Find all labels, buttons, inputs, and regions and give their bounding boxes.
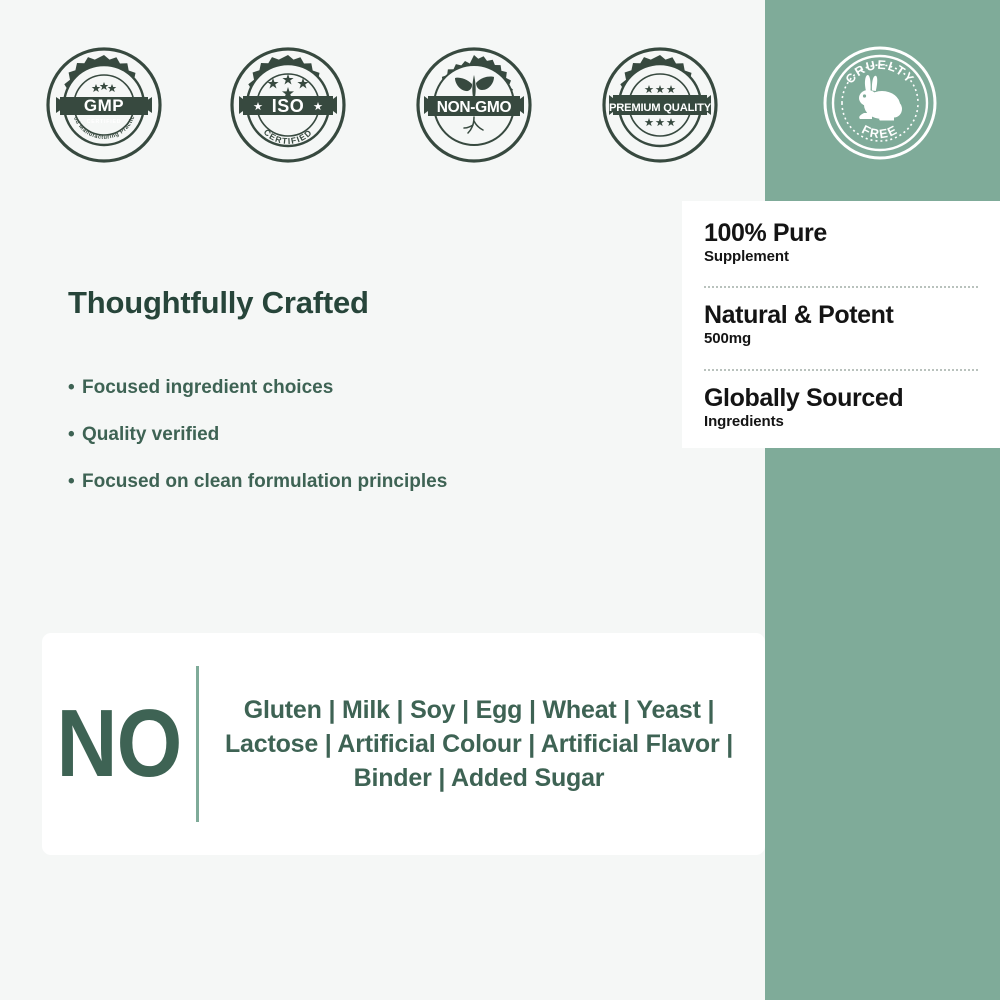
svg-text:PREMIUM QUALITY: PREMIUM QUALITY [609, 102, 712, 114]
svg-text:NON-GMO: NON-GMO [437, 99, 512, 116]
fact-item: Globally Sourced Ingredients [704, 384, 978, 440]
iso-badge-icon: ISO CERTIFIED [228, 45, 348, 165]
no-label: NO [51, 696, 187, 792]
bullet-dot-icon: • [68, 424, 82, 446]
fact-subtext: Ingredients [704, 413, 978, 430]
excluded-ingredients-list: Gluten | Milk | Soy | Egg | Wheat | Yeas… [221, 693, 765, 796]
svg-text:ISO: ISO [272, 96, 305, 116]
dotted-divider [704, 286, 978, 288]
fact-subtext: 500mg [704, 330, 978, 347]
certification-badge-strip: GMP CERTIFIED Good Manufacturing Practic… [0, 0, 1000, 195]
list-item-label: Quality verified [82, 424, 668, 446]
bullet-dot-icon: • [68, 471, 82, 493]
feature-bullet-list: • Focused ingredient choices • Quality v… [68, 377, 668, 493]
svg-text:GMP: GMP [84, 96, 124, 115]
svg-text:CERTIFIED: CERTIFIED [87, 119, 122, 125]
page-title: Thoughtfully Crafted [68, 286, 668, 320]
fact-subtext: Supplement [704, 248, 978, 265]
fact-headline: Globally Sourced [704, 384, 978, 412]
fact-headline: Natural & Potent [704, 301, 978, 329]
svg-text:CRUELTY: CRUELTY [843, 58, 917, 87]
bullet-dot-icon: • [68, 377, 82, 399]
dotted-divider [704, 369, 978, 371]
fact-item: 100% Pure Supplement [704, 219, 978, 275]
list-item-label: Focused on clean formulation principles [82, 471, 668, 493]
vertical-divider [196, 666, 199, 822]
free-from-card: NO Gluten | Milk | Soy | Egg | Wheat | Y… [42, 633, 765, 855]
non-gmo-badge-icon: NON-GMO [414, 45, 534, 165]
product-feature-graphic: GMP CERTIFIED Good Manufacturing Practic… [0, 0, 1000, 1000]
list-item: • Focused ingredient choices [68, 377, 668, 399]
premium-quality-badge-icon: PREMIUM QUALITY [600, 45, 720, 165]
gmp-badge-icon: GMP CERTIFIED Good Manufacturing Practic… [44, 45, 164, 165]
list-item-label: Focused ingredient choices [82, 377, 668, 399]
list-item: • Focused on clean formulation principle… [68, 471, 668, 493]
cruelty-free-badge-icon: CRUELTY FREE [820, 43, 940, 163]
fact-item: Natural & Potent 500mg [704, 301, 978, 357]
thoughtfully-crafted-section: Thoughtfully Crafted • Focused ingredien… [68, 286, 668, 518]
product-facts-card: 100% Pure Supplement Natural & Potent 50… [682, 201, 1000, 448]
fact-headline: 100% Pure [704, 219, 978, 247]
list-item: • Quality verified [68, 424, 668, 446]
